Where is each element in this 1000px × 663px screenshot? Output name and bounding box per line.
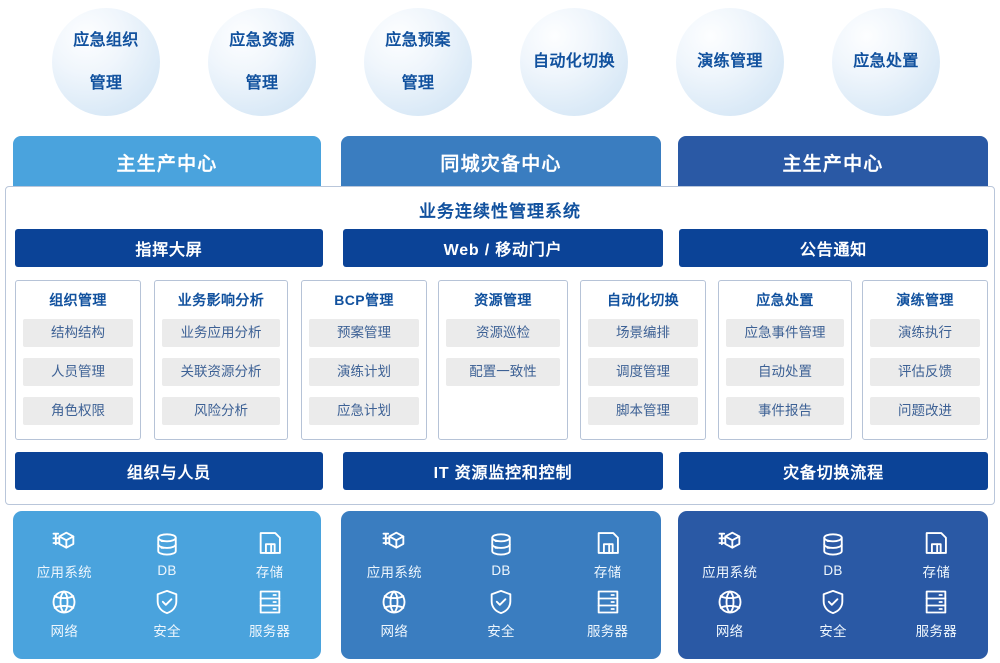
capability-label-line-2-0: 应急预案 — [377, 30, 459, 51]
storage-icon — [594, 529, 622, 557]
module-item[interactable]: 自动处置 — [726, 358, 844, 386]
infra-item-label: 应用系统 — [37, 561, 92, 581]
capability-label-line-2-1: 管理 — [377, 73, 459, 94]
infra-item-security[interactable]: 安全 — [116, 584, 219, 643]
infra-item-server[interactable]: 服务器 — [554, 584, 661, 643]
platform-bar-command-screen[interactable]: 指挥大屏 — [15, 229, 323, 267]
platform-bar-web-mobile-portal[interactable]: Web / 移动门户 — [343, 229, 663, 267]
capability-label-3: 自动化切换 — [525, 51, 623, 72]
module-item[interactable]: 人员管理 — [23, 358, 133, 386]
infra-item-label: 网络 — [381, 620, 409, 640]
module-title: 组织管理 — [23, 290, 133, 310]
database-icon — [153, 531, 181, 559]
infra-item-db[interactable]: DB — [781, 525, 884, 584]
infra-item-db[interactable]: DB — [116, 525, 219, 584]
bcm-platform-title: 业务连续性管理系统 — [6, 197, 994, 222]
platform-bar-org-and-people[interactable]: 组织与人员 — [15, 452, 323, 490]
platform-bar-dr-switchover-process[interactable]: 灾备切换流程 — [679, 452, 988, 490]
capability-label-line-1-1: 管理 — [221, 73, 303, 94]
capability-label-line-0-1: 管理 — [65, 73, 147, 94]
infra-item-db[interactable]: DB — [448, 525, 555, 584]
network-icon — [716, 588, 744, 616]
bcm-platform-panel: 业务连续性管理系统 指挥大屏 Web / 移动门户 公告通知 组织管理 结构结构… — [5, 186, 995, 505]
module-item[interactable]: 场景编排 — [588, 319, 698, 347]
infra-item-label: 存储 — [923, 561, 951, 581]
infra-item-app-system[interactable]: 应用系统 — [341, 525, 448, 584]
capability-circle-2[interactable]: 应急预案 管理 — [364, 8, 472, 116]
module-card-org-management[interactable]: 组织管理 结构结构 人员管理 角色权限 — [15, 280, 141, 440]
module-item[interactable]: 演练计划 — [309, 358, 419, 386]
module-item[interactable]: 演练执行 — [870, 319, 980, 347]
datacenter-header-primary-1[interactable]: 主生产中心 — [13, 136, 321, 188]
module-title: 业务影响分析 — [162, 290, 280, 310]
module-item[interactable]: 角色权限 — [23, 397, 133, 425]
datacenter-header-same-city-dr[interactable]: 同城灾备中心 — [341, 136, 661, 188]
infra-item-label: 服务器 — [249, 620, 290, 640]
infra-item-label: DB — [491, 563, 510, 578]
capability-circles-row: 应急组织 管理 应急资源 管理 应急预案 管理 自动化切换 演练管理 应急处置 — [0, 0, 1000, 130]
architecture-diagram: 应急组织 管理 应急资源 管理 应急预案 管理 自动化切换 演练管理 应急处置 … — [0, 0, 1000, 663]
storage-icon — [256, 529, 284, 557]
infra-item-label: DB — [823, 563, 842, 578]
infra-item-server[interactable]: 服务器 — [885, 584, 988, 643]
shield-check-icon — [487, 588, 515, 616]
module-item[interactable]: 配置一致性 — [446, 358, 560, 386]
module-item[interactable]: 关联资源分析 — [162, 358, 280, 386]
network-icon — [50, 588, 78, 616]
module-title: 演练管理 — [870, 290, 980, 310]
module-card-drill-management[interactable]: 演练管理 演练执行 评估反馈 问题改进 — [862, 280, 988, 440]
infra-item-server[interactable]: 服务器 — [218, 584, 321, 643]
infrastructure-panel-primary-2: 应用系统 DB 存储 网络 安全 服务器 — [678, 511, 988, 659]
infra-item-label: 安全 — [487, 620, 515, 640]
module-title: BCP管理 — [309, 290, 419, 310]
app-system-icon — [50, 529, 78, 557]
module-item[interactable]: 预案管理 — [309, 319, 419, 347]
network-icon — [380, 588, 408, 616]
infra-item-label: 存储 — [594, 561, 622, 581]
infrastructure-panel-same-city-dr: 应用系统 DB 存储 网络 安全 服务器 — [341, 511, 661, 659]
capability-circle-3[interactable]: 自动化切换 — [520, 8, 628, 116]
storage-icon — [922, 529, 950, 557]
infra-item-label: 服务器 — [916, 620, 957, 640]
module-item[interactable]: 业务应用分析 — [162, 319, 280, 347]
platform-bar-it-resource-monitoring[interactable]: IT 资源监控和控制 — [343, 452, 663, 490]
module-card-emergency-response[interactable]: 应急处置 应急事件管理 自动处置 事件报告 — [718, 280, 852, 440]
platform-bar-announcement[interactable]: 公告通知 — [679, 229, 988, 267]
infra-item-label: 服务器 — [587, 620, 628, 640]
infra-item-label: 网络 — [716, 620, 744, 640]
module-card-automated-switchover[interactable]: 自动化切换 场景编排 调度管理 脚本管理 — [580, 280, 706, 440]
module-card-business-impact-analysis[interactable]: 业务影响分析 业务应用分析 关联资源分析 风险分析 — [154, 280, 288, 440]
capability-label-5: 应急处置 — [845, 51, 927, 72]
infra-item-label: 存储 — [256, 561, 284, 581]
module-title: 资源管理 — [446, 290, 560, 310]
server-icon — [922, 588, 950, 616]
module-card-bcp-management[interactable]: BCP管理 预案管理 演练计划 应急计划 — [301, 280, 427, 440]
capability-label-4: 演练管理 — [689, 51, 771, 72]
infra-item-label: 应用系统 — [702, 561, 757, 581]
infra-item-label: 网络 — [51, 620, 79, 640]
module-item[interactable]: 调度管理 — [588, 358, 698, 386]
capability-circle-5[interactable]: 应急处置 — [832, 8, 940, 116]
datacenter-header-row: 主生产中心 同城灾备中心 主生产中心 — [0, 136, 1000, 188]
capability-circle-1[interactable]: 应急资源 管理 — [208, 8, 316, 116]
infra-item-storage[interactable]: 存储 — [885, 525, 988, 584]
database-icon — [819, 531, 847, 559]
server-icon — [594, 588, 622, 616]
app-system-icon — [380, 529, 408, 557]
shield-check-icon — [819, 588, 847, 616]
infra-item-security[interactable]: 安全 — [781, 584, 884, 643]
module-item[interactable]: 应急计划 — [309, 397, 419, 425]
database-icon — [487, 531, 515, 559]
datacenter-header-primary-2[interactable]: 主生产中心 — [678, 136, 988, 188]
module-item[interactable]: 结构结构 — [23, 319, 133, 347]
app-system-icon — [716, 529, 744, 557]
infra-item-label: 安全 — [153, 620, 181, 640]
shield-check-icon — [153, 588, 181, 616]
infra-item-network[interactable]: 网络 — [678, 584, 781, 643]
infra-item-security[interactable]: 安全 — [448, 584, 555, 643]
infrastructure-grid: 应用系统 DB 存储 网络 安全 服务器 — [13, 525, 321, 643]
infrastructure-grid: 应用系统 DB 存储 网络 安全 服务器 — [341, 525, 661, 643]
infra-item-storage[interactable]: 存储 — [218, 525, 321, 584]
infra-item-app-system[interactable]: 应用系统 — [678, 525, 781, 584]
capability-circle-4[interactable]: 演练管理 — [676, 8, 784, 116]
infra-item-label: DB — [157, 563, 176, 578]
capability-label-line-0-0: 应急组织 — [65, 30, 147, 51]
infra-item-network[interactable]: 网络 — [13, 584, 116, 643]
module-item[interactable]: 资源巡检 — [446, 319, 560, 347]
module-card-resource-management[interactable]: 资源管理 资源巡检 配置一致性 — [438, 280, 568, 440]
infra-item-storage[interactable]: 存储 — [554, 525, 661, 584]
module-item[interactable]: 问题改进 — [870, 397, 980, 425]
module-item[interactable]: 脚本管理 — [588, 397, 698, 425]
infra-item-label: 安全 — [819, 620, 847, 640]
capability-circle-0[interactable]: 应急组织 管理 — [52, 8, 160, 116]
capability-label-line-1-0: 应急资源 — [221, 30, 303, 51]
infra-item-app-system[interactable]: 应用系统 — [13, 525, 116, 584]
module-title: 应急处置 — [726, 290, 844, 310]
module-item[interactable]: 评估反馈 — [870, 358, 980, 386]
infrastructure-grid: 应用系统 DB 存储 网络 安全 服务器 — [678, 525, 988, 643]
infra-item-label: 应用系统 — [367, 561, 422, 581]
module-title: 自动化切换 — [588, 290, 698, 310]
module-item[interactable]: 事件报告 — [726, 397, 844, 425]
module-item[interactable]: 应急事件管理 — [726, 319, 844, 347]
module-item[interactable]: 风险分析 — [162, 397, 280, 425]
infrastructure-panel-primary-1: 应用系统 DB 存储 网络 安全 服务器 — [13, 511, 321, 659]
infra-item-network[interactable]: 网络 — [341, 584, 448, 643]
server-icon — [256, 588, 284, 616]
